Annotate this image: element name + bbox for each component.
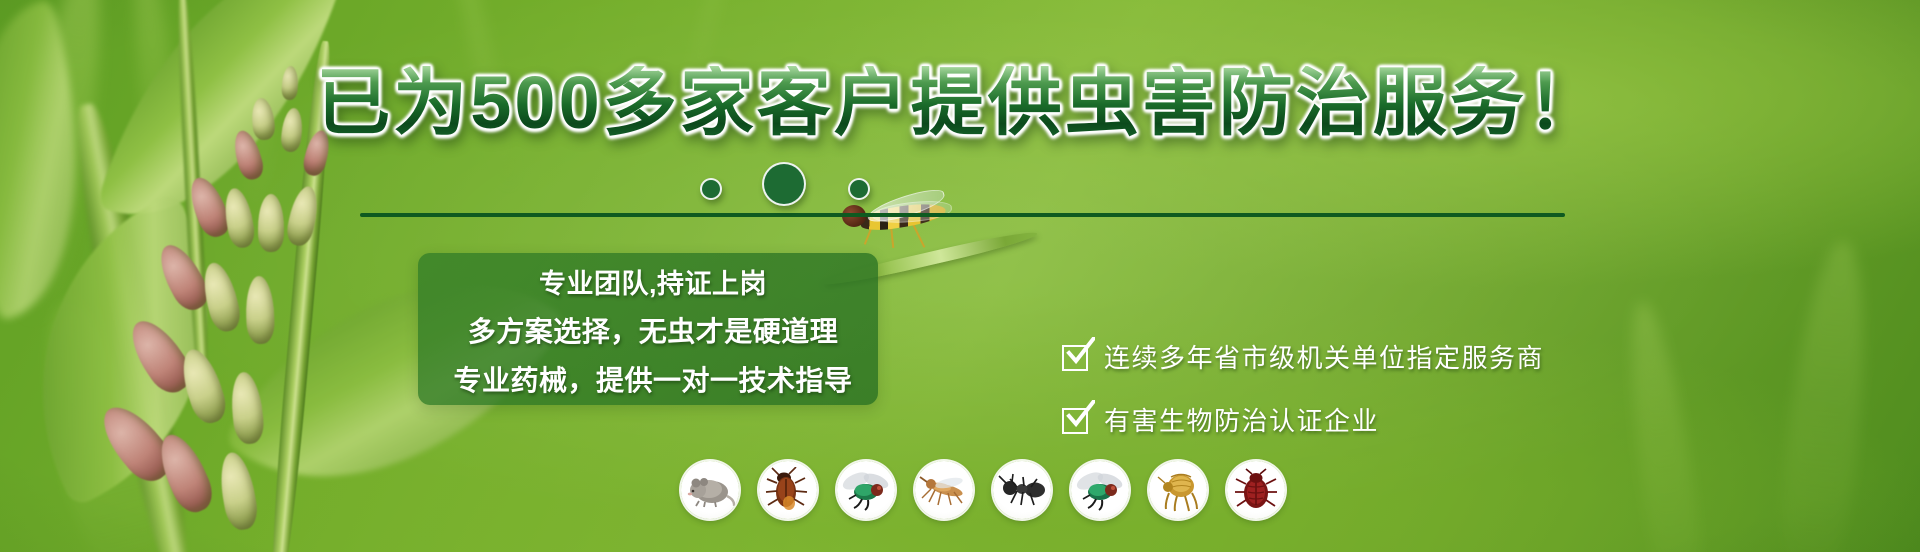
list-item-label: 有害生物防治认证企业 bbox=[1104, 401, 1379, 438]
pest-control-banner: 已为500多家客户提供虫害防治服务！ 专业团队,持证上岗 多方案选择，无虫才是硬… bbox=[0, 0, 1920, 552]
info-line-1: 专业团队,持证上岗 bbox=[539, 262, 767, 301]
checkbox-checked-icon bbox=[1062, 343, 1090, 371]
decorative-dots bbox=[700, 158, 940, 222]
checkbox-checked-icon bbox=[1062, 406, 1090, 434]
cockroach-icon[interactable] bbox=[759, 461, 817, 519]
mosquito-icon[interactable] bbox=[915, 461, 973, 519]
hoverfly-leg bbox=[912, 224, 925, 248]
pest-icon-row bbox=[681, 461, 1285, 519]
decorative-dot-small bbox=[848, 178, 870, 200]
bedbug-icon[interactable] bbox=[1227, 461, 1285, 519]
list-item: 连续多年省市级机关单位指定服务商 bbox=[1062, 338, 1544, 375]
decorative-dot-large bbox=[762, 162, 806, 206]
certification-list: 连续多年省市级机关单位指定服务商 有害生物防治认证企业 bbox=[1062, 338, 1544, 438]
ant-icon[interactable] bbox=[993, 461, 1051, 519]
mouse-icon[interactable] bbox=[681, 461, 739, 519]
divider bbox=[360, 213, 1565, 217]
decorative-dot-small bbox=[700, 178, 722, 200]
hoverfly-leg bbox=[890, 226, 894, 248]
info-line-2: 多方案选择，无虫才是硬道理 bbox=[468, 310, 839, 350]
flea-icon[interactable] bbox=[1149, 461, 1207, 519]
info-box-text: 专业团队,持证上岗 多方案选择，无虫才是硬道理 专业药械，提供一对一技术指导 bbox=[418, 258, 888, 403]
info-line-3: 专业药械，提供一对一技术指导 bbox=[453, 359, 852, 399]
banner-headline: 已为500多家客户提供虫害防治服务！ bbox=[0, 66, 1920, 140]
list-item: 有害生物防治认证企业 bbox=[1062, 401, 1544, 438]
fly-green-icon[interactable] bbox=[1071, 461, 1129, 519]
list-item-label: 连续多年省市级机关单位指定服务商 bbox=[1104, 338, 1544, 375]
fly-icon[interactable] bbox=[837, 461, 895, 519]
